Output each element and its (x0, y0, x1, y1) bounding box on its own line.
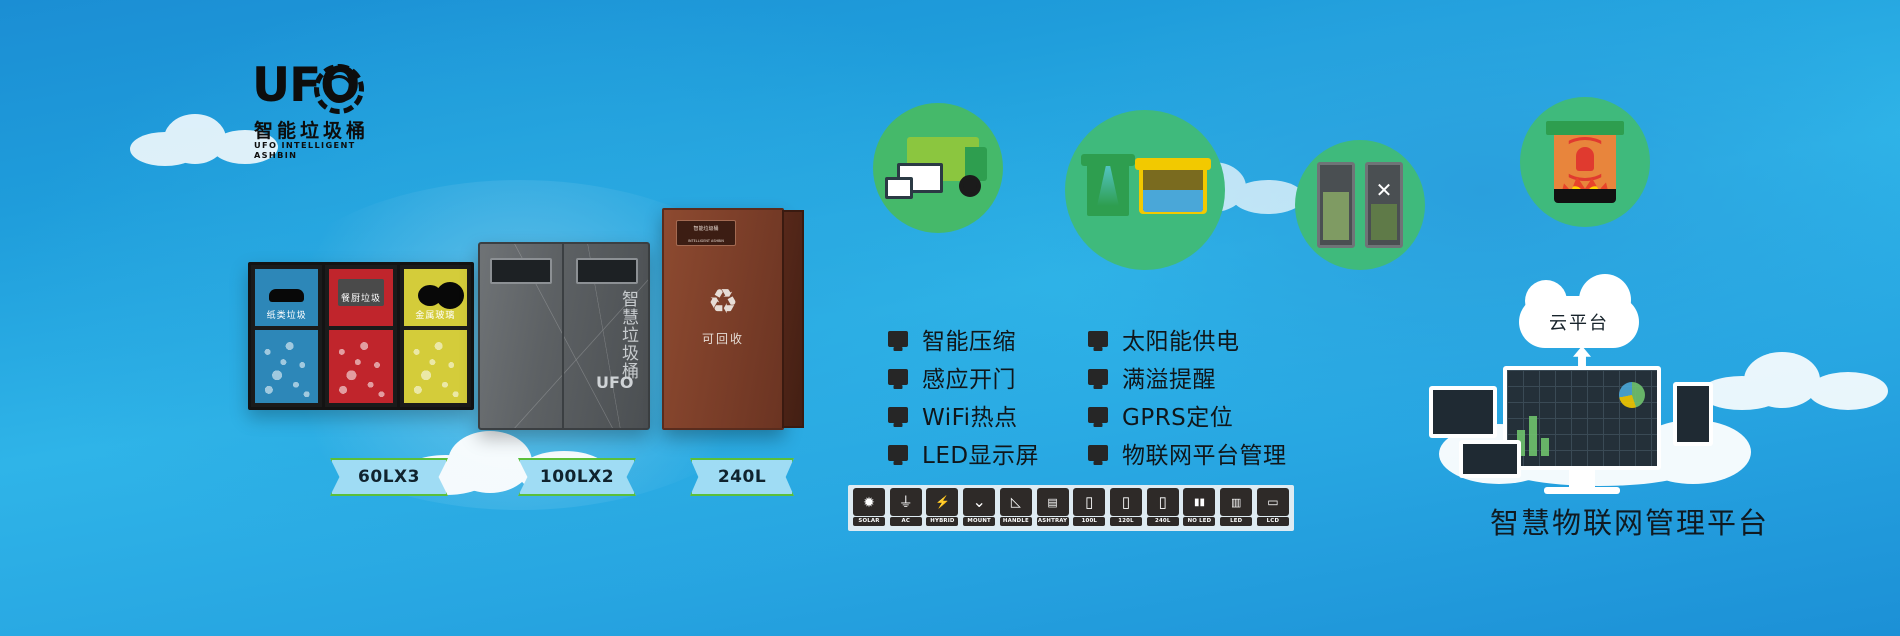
empty-bin-lid-icon (1081, 154, 1135, 166)
grey-bin-brand-mark: UFO (596, 373, 634, 392)
monitor-bullet-icon (1088, 407, 1108, 423)
handle-icon: ◺ (1000, 488, 1032, 516)
bin-panel-kitchen-bottom (329, 330, 392, 403)
monitor-bullet-icon (1088, 445, 1108, 461)
option-caption: MOUNT (963, 517, 995, 526)
option-mount[interactable]: ⌄ MOUNT (963, 488, 995, 528)
platform-title: 智慧物联网管理平台 (1490, 500, 1820, 542)
brown-bin-recycle-label: 可回收 (664, 330, 782, 347)
bin-label-metalglass: 金属玻璃 (404, 308, 467, 321)
bin-panel-paper: 纸类垃圾 (251, 265, 325, 407)
brown-bin-screen-line2: INTELLIGENT ASHBIN (677, 238, 735, 245)
fleet-dispatch-circle (873, 103, 1003, 233)
feature-label: 太阳能供电 (1122, 322, 1240, 356)
fire-alarm-circle (1520, 97, 1650, 227)
option-led[interactable]: ▥ LED (1220, 488, 1252, 528)
feature-item: GPRS定位 (1088, 396, 1287, 434)
option-caption: 120L (1110, 517, 1142, 526)
feature-item: LED显示屏 (888, 434, 1039, 472)
feature-list-right: 太阳能供电 满溢提醒 GPRS定位 物联网平台管理 (1088, 320, 1287, 472)
compress-arrow-icon: ✕ (1375, 178, 1393, 204)
sorting-bin-trio: 纸类垃圾 餐厨垃圾 金属玻璃 (248, 262, 474, 410)
bin-panel-metalglass: 金属玻璃 (400, 265, 471, 407)
no-led-icon: ▮▮ (1183, 488, 1215, 516)
compactor-waste-right (1371, 204, 1397, 240)
option-icon-strip: ✹ SOLAR ⏚ AC ⚡ HYBRID ⌄ MOUNT ◺ HANDLE ▤… (848, 485, 1294, 531)
option-lcd[interactable]: ▭ LCD (1257, 488, 1289, 528)
option-120l[interactable]: ▯ 120L (1110, 488, 1142, 528)
hybrid-power-icon: ⚡ (926, 488, 958, 516)
bar-chart-graphic (1529, 416, 1537, 456)
option-hybrid[interactable]: ⚡ HYBRID (926, 488, 958, 528)
option-handle[interactable]: ◺ HANDLE (1000, 488, 1032, 528)
monitor-bullet-icon (888, 445, 908, 461)
capacity-tag-60lx3: 60LX3 (330, 458, 448, 496)
left-tablet-device (1429, 386, 1497, 438)
recycle-bin-brown: 智能垃圾桶 INTELLIGENT ASHBIN ♻ 可回收 (662, 208, 784, 430)
led-icon: ▥ (1220, 488, 1252, 516)
feature-label: WiFi热点 (922, 398, 1018, 432)
fill-level-circle (1065, 110, 1225, 270)
promo-banner: UFO 智能垃圾桶 UFO INTELLIGENT ASHBIN 纸类垃圾 餐厨… (0, 0, 1900, 636)
bin-litter-graphic (329, 330, 392, 403)
feature-label: 满溢提醒 (1122, 360, 1216, 394)
option-caption: LED (1220, 517, 1252, 526)
capacity-tag-240l: 240L (690, 458, 794, 496)
burning-bin-base-icon (1554, 189, 1616, 203)
option-solar[interactable]: ✹ SOLAR (853, 488, 885, 528)
bin-240l-icon: ▯ (1147, 488, 1179, 516)
capacity-tag-label: 240L (718, 467, 766, 487)
lower-laptop-screen (1463, 444, 1517, 474)
lcd-icon: ▭ (1257, 488, 1289, 516)
fill-level-indicator (1143, 190, 1203, 212)
right-phone-screen (1677, 386, 1709, 442)
lower-laptop-device (1459, 440, 1521, 478)
grey-bin-display-right (576, 258, 638, 284)
bin-litter-graphic (404, 330, 467, 403)
capacity-tag-100lx2: 100LX2 (518, 458, 636, 496)
option-caption: SOLAR (853, 517, 885, 526)
option-ashtray[interactable]: ▤ ASHTRAY (1037, 488, 1069, 528)
power-plug-icon: ⏚ (890, 488, 922, 516)
feature-item: 智能压缩 (888, 320, 1039, 358)
monitor-stand (1569, 466, 1595, 488)
bin-slot-paper-icon (269, 289, 304, 302)
feature-item: 物联网平台管理 (1088, 434, 1287, 472)
monitor-bullet-icon (1088, 331, 1108, 347)
bin-panel-kitchen: 餐厨垃圾 (325, 265, 399, 407)
option-240l[interactable]: ▯ 240L (1147, 488, 1179, 528)
option-caption: HYBRID (926, 517, 958, 526)
option-caption: 240L (1147, 517, 1179, 526)
ashtray-icon: ▤ (1037, 488, 1069, 516)
option-caption: AC (890, 517, 922, 526)
right-phone-device (1673, 382, 1713, 446)
left-tablet-screen (1433, 390, 1493, 434)
brown-bin-screen-line1: 智能垃圾桶 (677, 226, 735, 233)
smart-bin-grey: 智慧垃圾桶 UFO (478, 242, 650, 430)
bin-label-kitchen: 餐厨垃圾 (329, 291, 392, 304)
option-caption: LCD (1257, 517, 1289, 526)
wall-mount-icon: ⌄ (963, 488, 995, 516)
feature-item: 感应开门 (888, 358, 1039, 396)
option-ac[interactable]: ⏚ AC (890, 488, 922, 528)
burning-bin-lid-icon (1546, 121, 1624, 135)
compaction-circle: ✕ (1295, 140, 1425, 270)
capacity-tag-label: 100LX2 (540, 467, 614, 487)
monitor-bullet-icon (888, 331, 908, 347)
dashboard-screen (1507, 370, 1657, 466)
bar-chart-graphic (1541, 438, 1549, 456)
compactor-waste-left (1323, 192, 1349, 240)
monitor-bullet-icon (888, 407, 908, 423)
dashboard-monitor (1503, 366, 1661, 470)
recycle-symbol-icon: ♻ (664, 282, 782, 322)
tablet-icon (885, 177, 913, 199)
bin-panel-kitchen-top: 餐厨垃圾 (329, 269, 392, 326)
bin-slot-glass-icon (436, 282, 464, 309)
option-no-led[interactable]: ▮▮ NO LED (1183, 488, 1215, 528)
feature-label: 物联网平台管理 (1122, 436, 1287, 470)
bin-100l-icon: ▯ (1073, 488, 1105, 516)
grey-bin-display-left (490, 258, 552, 284)
cloud-platform-label: 云平台 (1549, 309, 1609, 335)
grey-bin-vertical-label: 智慧垃圾桶 (616, 290, 638, 380)
cloud-platform-badge: 云平台 (1519, 296, 1639, 348)
bin-panel-metalglass-bottom (404, 330, 467, 403)
bin-panel-paper-top: 纸类垃圾 (255, 269, 318, 326)
monitor-base (1544, 487, 1620, 494)
option-caption: NO LED (1183, 517, 1215, 526)
feature-item: 太阳能供电 (1088, 320, 1287, 358)
capacity-tag-label: 60LX3 (358, 467, 420, 487)
bin-label-paper: 纸类垃圾 (255, 308, 318, 321)
feature-label: GPRS定位 (1122, 398, 1233, 432)
brown-bin-screen: 智能垃圾桶 INTELLIGENT ASHBIN (676, 220, 736, 246)
feature-list-left: 智能压缩 感应开门 WiFi热点 LED显示屏 (888, 320, 1039, 472)
feature-label: 感应开门 (922, 360, 1016, 394)
feature-label: 智能压缩 (922, 322, 1016, 356)
full-bin-lid-icon (1135, 158, 1211, 170)
monitor-bullet-icon (888, 369, 908, 385)
bin-panel-paper-bottom (255, 330, 318, 403)
bin-120l-icon: ▯ (1110, 488, 1142, 516)
feature-item: WiFi热点 (888, 396, 1039, 434)
brown-bin-side-panel (782, 210, 804, 428)
grey-bin-left-half (480, 244, 564, 428)
feature-item: 满溢提醒 (1088, 358, 1287, 396)
sun-icon: ✹ (853, 488, 885, 516)
monitor-bullet-icon (1088, 369, 1108, 385)
option-caption: 100L (1073, 517, 1105, 526)
option-100l[interactable]: ▯ 100L (1073, 488, 1105, 528)
pie-chart-graphic (1619, 382, 1645, 408)
truck-wheel-icon (959, 175, 981, 197)
option-caption: HANDLE (1000, 517, 1032, 526)
feature-label: LED显示屏 (922, 436, 1039, 470)
bin-litter-graphic (255, 330, 318, 403)
option-caption: ASHTRAY (1037, 517, 1069, 526)
bin-panel-metalglass-top: 金属玻璃 (404, 269, 467, 326)
